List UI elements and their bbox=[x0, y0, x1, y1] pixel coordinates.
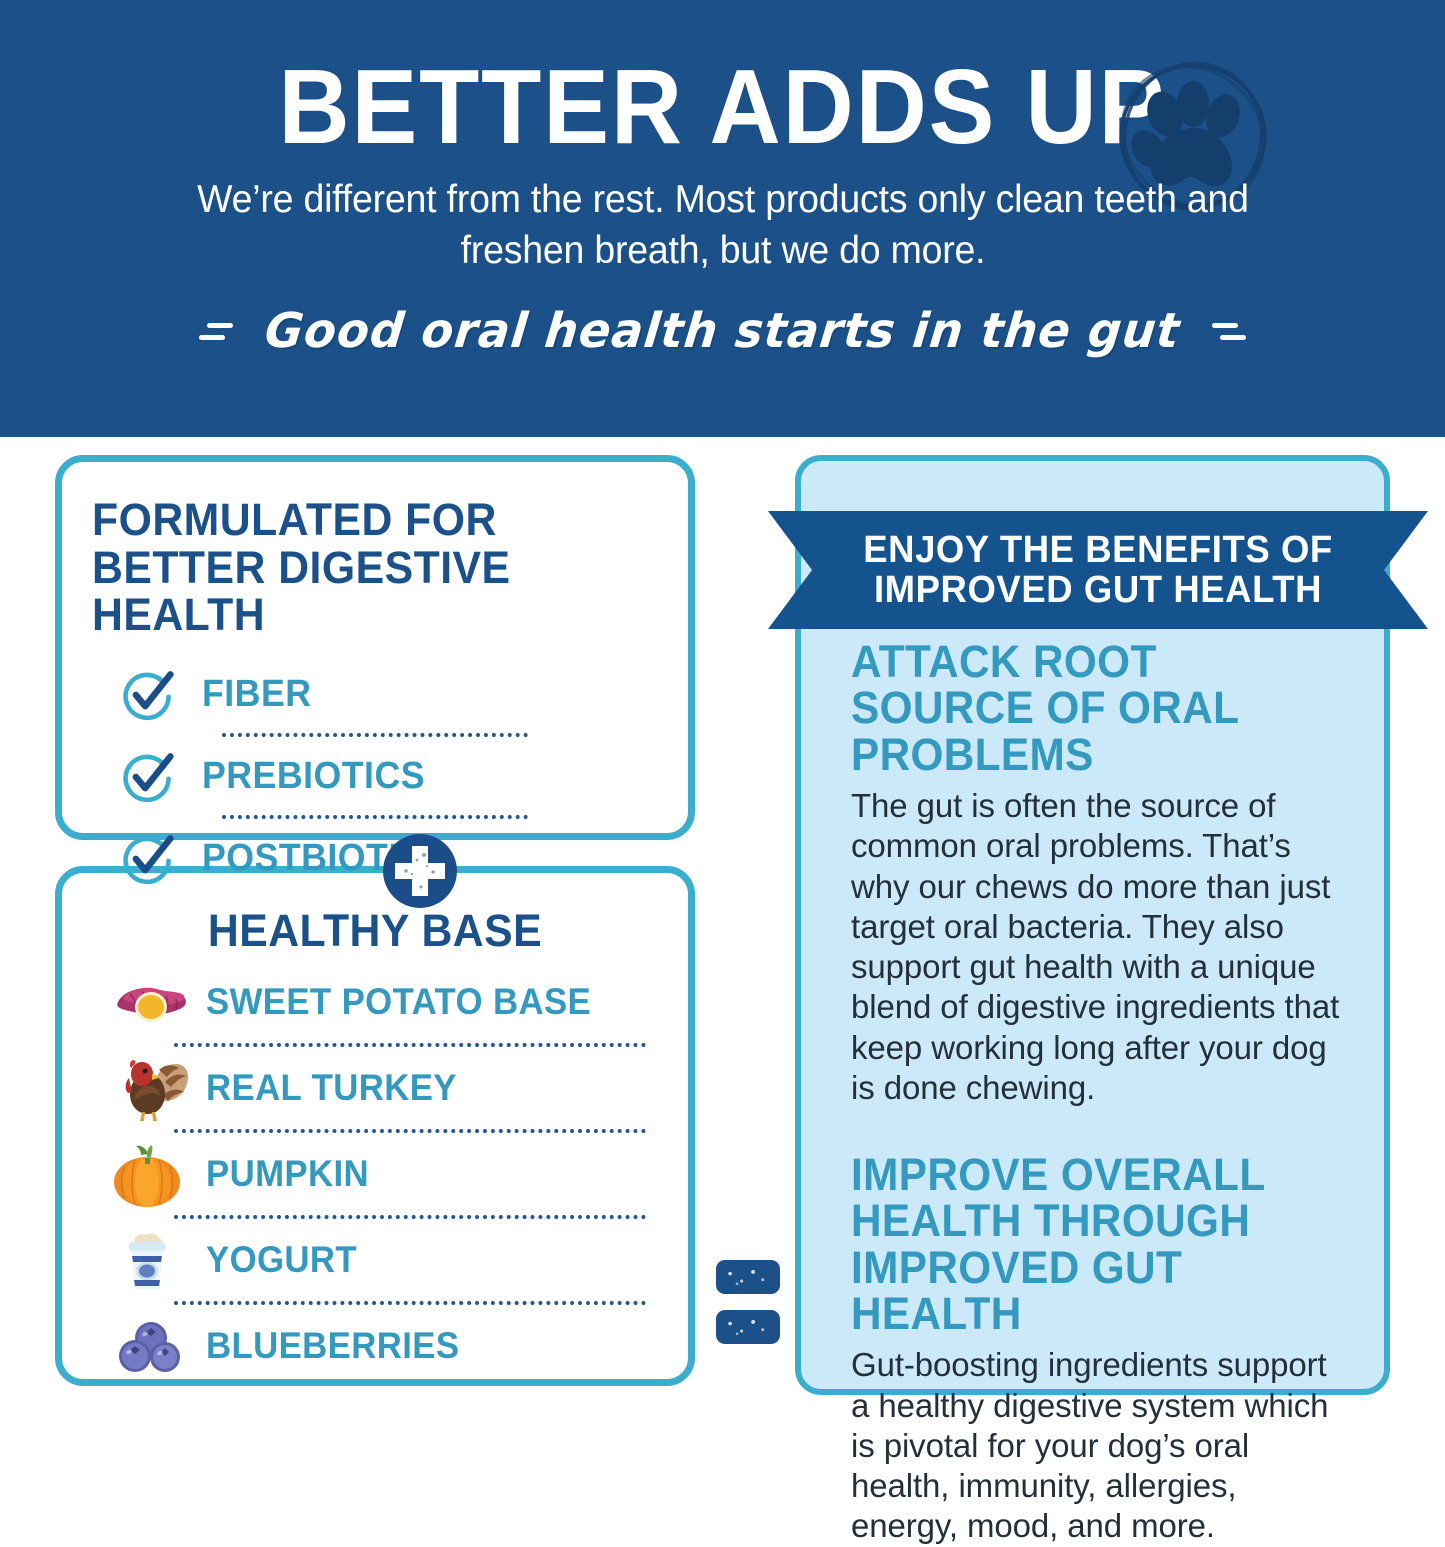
benefit-section-improve-overall-health: IMPROVE OVERALL HEALTH THROUGH IMPROVED … bbox=[851, 1152, 1350, 1547]
content-area: FORMULATED FOR BETTER DIGESTIVE HEALTH F… bbox=[0, 437, 1445, 1410]
card-title-formulated: FORMULATED FOR BETTER DIGESTIVE HEALTH bbox=[92, 496, 630, 639]
benefits-ribbon: ENJOY THE BENEFITS OF IMPROVED GUT HEALT… bbox=[768, 511, 1428, 629]
list-item-label: PREBIOTICS bbox=[202, 755, 425, 798]
benefits-ribbon-text: ENJOY THE BENEFITS OF IMPROVED GUT HEALT… bbox=[781, 511, 1415, 629]
list-item-label: REAL TURKEY bbox=[206, 1067, 457, 1109]
list-item[interactable]: SWEET POTATO BASE bbox=[86, 963, 664, 1041]
card-formulated-for-better-digestive-health: FORMULATED FOR BETTER DIGESTIVE HEALTH F… bbox=[55, 455, 695, 840]
divider-dotted bbox=[174, 1215, 646, 1219]
list-item-label: BLUEBERRIES bbox=[206, 1325, 459, 1367]
list-item[interactable]: YOGURT bbox=[86, 1221, 664, 1299]
list-item-label: FIBER bbox=[202, 673, 312, 716]
divider-dotted bbox=[222, 815, 528, 819]
benefit-title: ATTACK ROOT SOURCE OF ORAL PROBLEMS bbox=[851, 639, 1320, 778]
benefits-body: ATTACK ROOT SOURCE OF ORAL PROBLEMS The … bbox=[801, 639, 1384, 1547]
list-item[interactable]: FIBER bbox=[92, 657, 658, 731]
divider-dotted bbox=[174, 1129, 646, 1133]
blueberries-icon bbox=[104, 1310, 190, 1382]
ribbon-line-2: IMPROVED GUT HEALTH bbox=[874, 570, 1322, 610]
ingredient-list: SWEET POTATO BASE bbox=[86, 963, 664, 1385]
script-tagline-row: Good oral health starts in the gut bbox=[199, 303, 1246, 359]
benefit-title: IMPROVE OVERALL HEALTH THROUGH IMPROVED … bbox=[851, 1152, 1320, 1337]
right-column-benefits-panel: ENJOY THE BENEFITS OF IMPROVED GUT HEALT… bbox=[795, 455, 1390, 1395]
divider-dotted bbox=[174, 1301, 646, 1305]
check-circle-icon bbox=[120, 830, 176, 886]
dash-ornament-right-icon bbox=[1212, 323, 1246, 340]
check-circle-icon bbox=[120, 666, 176, 722]
list-item[interactable]: BLUEBERRIES bbox=[86, 1307, 664, 1385]
list-item[interactable]: REAL TURKEY bbox=[86, 1049, 664, 1127]
benefit-body-text: Gut-boosting ingredients support a healt… bbox=[851, 1345, 1350, 1546]
dash-ornament-left-icon bbox=[199, 323, 233, 340]
list-item-label: YOGURT bbox=[206, 1239, 357, 1281]
script-tagline: Good oral health starts in the gut bbox=[262, 303, 1183, 359]
divider-dotted bbox=[174, 1043, 646, 1047]
list-item-label: SWEET POTATO BASE bbox=[206, 981, 591, 1023]
left-column: FORMULATED FOR BETTER DIGESTIVE HEALTH F… bbox=[55, 455, 695, 1386]
check-circle-icon bbox=[120, 748, 176, 804]
check-list: FIBER PREBIOTICS bbox=[92, 657, 658, 895]
header-banner: BETTER ADDS UP bbox=[0, 0, 1445, 437]
page-title: BETTER ADDS UP bbox=[279, 58, 1167, 158]
benefit-body-text: The gut is often the source of common or… bbox=[851, 786, 1350, 1108]
infographic-page: BETTER ADDS UP bbox=[0, 0, 1445, 1410]
title-row: BETTER ADDS UP bbox=[0, 58, 1445, 158]
list-item-label: PUMPKIN bbox=[206, 1153, 369, 1195]
plus-circle-icon bbox=[382, 833, 458, 909]
pumpkin-icon bbox=[104, 1138, 190, 1210]
benefit-section-attack-root-source: ATTACK ROOT SOURCE OF ORAL PROBLEMS The … bbox=[851, 639, 1350, 1108]
sweet-potato-icon bbox=[104, 966, 190, 1038]
list-item[interactable]: PUMPKIN bbox=[86, 1135, 664, 1213]
card-healthy-base: HEALTHY BASE bbox=[55, 866, 695, 1386]
ribbon-line-1: ENJOY THE BENEFITS OF bbox=[863, 530, 1333, 570]
header-subtitle: We’re different from the rest. Most prod… bbox=[195, 174, 1251, 278]
yogurt-cup-icon bbox=[104, 1224, 190, 1296]
turkey-icon bbox=[104, 1052, 190, 1124]
divider-dotted bbox=[222, 733, 528, 737]
equals-sign-icon bbox=[716, 1260, 780, 1344]
list-item[interactable]: PREBIOTICS bbox=[92, 739, 658, 813]
section-spacer bbox=[851, 1108, 1350, 1152]
card-title-healthy-base: HEALTHY BASE bbox=[100, 907, 649, 955]
